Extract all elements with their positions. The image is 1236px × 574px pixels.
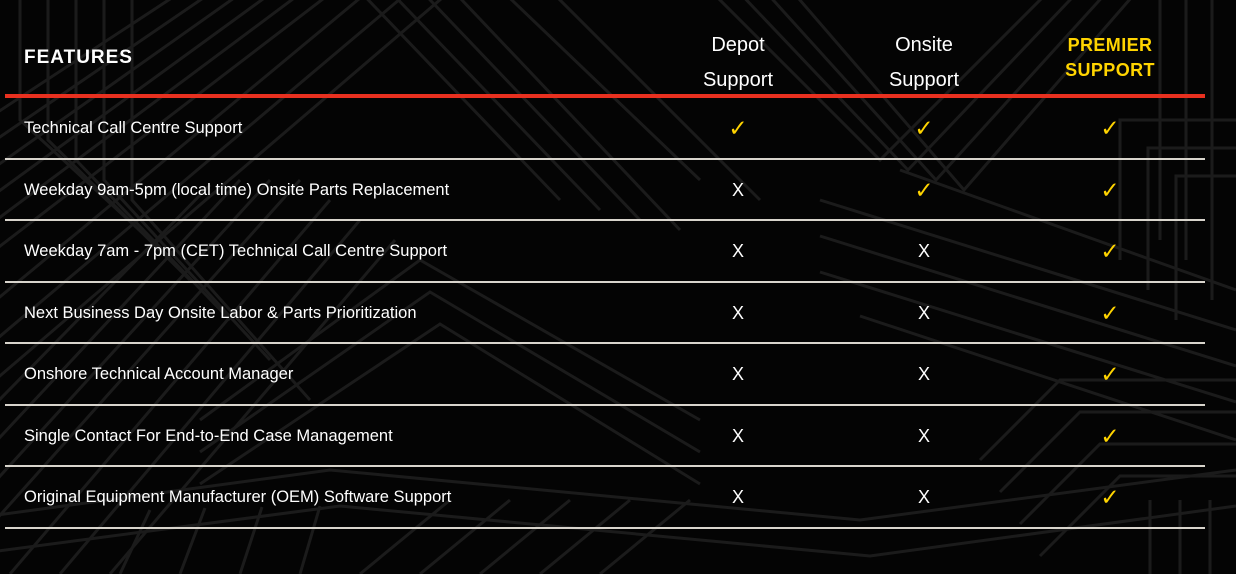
feature-availability-cell: ✓ bbox=[1015, 221, 1205, 283]
features-column-title: FEATURES bbox=[24, 47, 133, 69]
cross-icon: X bbox=[732, 241, 744, 261]
feature-availability-cell: ✓ bbox=[1015, 344, 1205, 406]
row-divider bbox=[5, 527, 1205, 529]
check-icon: ✓ bbox=[914, 115, 933, 141]
check-icon: ✓ bbox=[914, 177, 933, 203]
feature-rows: Technical Call Centre Support✓✓✓Weekday … bbox=[0, 98, 1236, 529]
feature-availability-cell: X bbox=[643, 283, 833, 345]
cross-icon: X bbox=[732, 487, 744, 507]
feature-label: Original Equipment Manufacturer (OEM) So… bbox=[24, 467, 451, 529]
cross-icon: X bbox=[918, 364, 930, 384]
cross-icon: X bbox=[732, 364, 744, 384]
support-tier-comparison-table: FEATURES Depot Support Onsite Support PR… bbox=[0, 0, 1236, 574]
table-row: Single Contact For End-to-End Case Manag… bbox=[0, 406, 1236, 468]
feature-availability-cell: X bbox=[643, 406, 833, 468]
column-header-premier-line1: PREMIER bbox=[1015, 33, 1205, 58]
feature-availability-cell: X bbox=[829, 283, 1019, 345]
table-row: Onshore Technical Account ManagerXX✓ bbox=[0, 344, 1236, 406]
table-row: Weekday 7am - 7pm (CET) Technical Call C… bbox=[0, 221, 1236, 283]
feature-availability-cell: ✓ bbox=[1015, 406, 1205, 468]
feature-label: Single Contact For End-to-End Case Manag… bbox=[24, 406, 393, 468]
table-header: FEATURES Depot Support Onsite Support PR… bbox=[0, 0, 1236, 94]
feature-availability-cell: ✓ bbox=[1015, 467, 1205, 529]
feature-availability-cell: X bbox=[829, 467, 1019, 529]
table-row: Weekday 9am-5pm (local time) Onsite Part… bbox=[0, 160, 1236, 222]
feature-availability-cell: ✓ bbox=[1015, 98, 1205, 160]
feature-availability-cell: X bbox=[643, 467, 833, 529]
cross-icon: X bbox=[918, 241, 930, 261]
column-header-premier-support: PREMIER SUPPORT bbox=[1015, 33, 1205, 83]
feature-availability-cell: ✓ bbox=[643, 98, 833, 160]
check-icon: ✓ bbox=[728, 115, 747, 141]
check-icon: ✓ bbox=[1100, 177, 1119, 203]
check-icon: ✓ bbox=[1100, 300, 1119, 326]
check-icon: ✓ bbox=[1100, 423, 1119, 449]
check-icon: ✓ bbox=[1100, 238, 1119, 264]
feature-label: Weekday 7am - 7pm (CET) Technical Call C… bbox=[24, 221, 447, 283]
column-header-depot-support: Depot Support bbox=[643, 28, 833, 98]
column-header-onsite-support: Onsite Support bbox=[829, 28, 1019, 98]
column-header-onsite-line1: Onsite bbox=[829, 28, 1019, 63]
feature-availability-cell: ✓ bbox=[829, 98, 1019, 160]
check-icon: ✓ bbox=[1100, 115, 1119, 141]
cross-icon: X bbox=[732, 426, 744, 446]
cross-icon: X bbox=[918, 487, 930, 507]
table-row: Technical Call Centre Support✓✓✓ bbox=[0, 98, 1236, 160]
cross-icon: X bbox=[918, 426, 930, 446]
feature-availability-cell: ✓ bbox=[1015, 283, 1205, 345]
cross-icon: X bbox=[732, 303, 744, 323]
cross-icon: X bbox=[918, 303, 930, 323]
feature-availability-cell: X bbox=[643, 221, 833, 283]
feature-label: Weekday 9am-5pm (local time) Onsite Part… bbox=[24, 160, 449, 222]
feature-availability-cell: X bbox=[829, 344, 1019, 406]
feature-label: Technical Call Centre Support bbox=[24, 98, 242, 160]
column-header-depot-line1: Depot bbox=[643, 28, 833, 63]
feature-label: Onshore Technical Account Manager bbox=[24, 344, 293, 406]
feature-availability-cell: ✓ bbox=[1015, 160, 1205, 222]
feature-label: Next Business Day Onsite Labor & Parts P… bbox=[24, 283, 417, 345]
check-icon: ✓ bbox=[1100, 361, 1119, 387]
feature-availability-cell: X bbox=[643, 344, 833, 406]
table-row: Next Business Day Onsite Labor & Parts P… bbox=[0, 283, 1236, 345]
table-row: Original Equipment Manufacturer (OEM) So… bbox=[0, 467, 1236, 529]
feature-availability-cell: ✓ bbox=[829, 160, 1019, 222]
column-header-depot-line2: Support bbox=[643, 63, 833, 98]
feature-availability-cell: X bbox=[643, 160, 833, 222]
check-icon: ✓ bbox=[1100, 484, 1119, 510]
column-header-premier-line2: SUPPORT bbox=[1015, 58, 1205, 83]
feature-availability-cell: X bbox=[829, 406, 1019, 468]
cross-icon: X bbox=[732, 180, 744, 200]
feature-availability-cell: X bbox=[829, 221, 1019, 283]
column-header-onsite-line2: Support bbox=[829, 63, 1019, 98]
